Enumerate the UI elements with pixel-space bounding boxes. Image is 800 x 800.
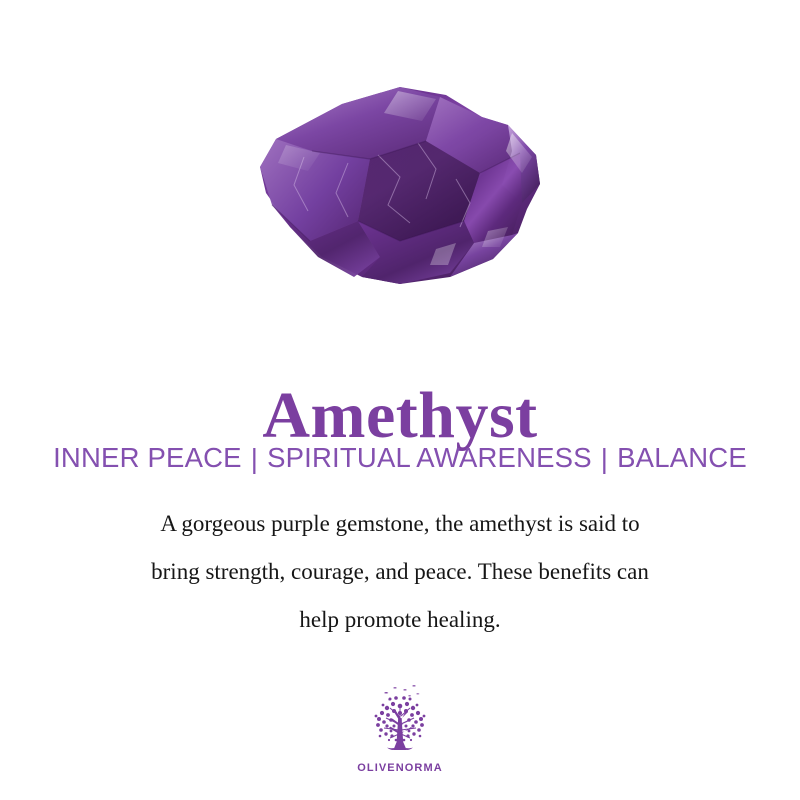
amethyst-crystal-icon	[250, 81, 550, 296]
description-line: A gorgeous purple gemstone, the amethyst…	[60, 500, 740, 548]
keyword-balance: BALANCE	[617, 442, 747, 473]
keyword-list: INNER PEACE|SPIRITUAL AWARENESS|BALANCE	[0, 440, 800, 476]
amethyst-crystal-image	[0, 78, 800, 298]
description-line: bring strength, courage, and peace. Thes…	[60, 548, 740, 596]
keyword-separator: |	[592, 441, 617, 477]
amethyst-info-card: Amethyst INNER PEACE|SPIRITUAL AWARENESS…	[0, 0, 800, 800]
brand-name: OLIVENORMA	[357, 762, 443, 774]
brand-logo: OLIVENORMA	[0, 680, 800, 774]
description-text: A gorgeous purple gemstone, the amethyst…	[60, 500, 740, 644]
keyword-spiritual-awareness: SPIRITUAL AWARENESS	[267, 442, 592, 473]
keyword-inner-peace: INNER PEACE	[53, 442, 242, 473]
keyword-separator: |	[242, 441, 267, 477]
tree-with-birds-icon	[358, 680, 442, 760]
description-line: help promote healing.	[60, 596, 740, 644]
